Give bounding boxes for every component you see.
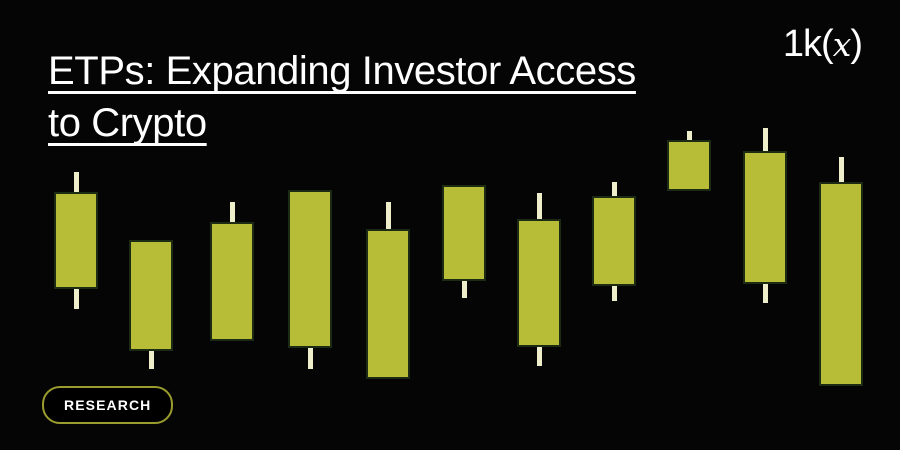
candlestick-body	[667, 140, 711, 191]
candlestick	[743, 0, 787, 450]
candlestick-body	[129, 240, 173, 351]
candlestick-body	[592, 196, 636, 286]
candlestick-body	[743, 151, 787, 284]
brand-logo: 1k(x)	[783, 22, 862, 67]
candlestick	[819, 0, 863, 450]
candlestick-body	[210, 222, 254, 341]
brand-logo-suffix: )	[850, 23, 862, 65]
research-badge[interactable]: RESEARCH	[42, 386, 173, 424]
candlestick-body	[442, 185, 486, 281]
research-badge-label: RESEARCH	[64, 397, 151, 413]
candlestick-body	[819, 182, 863, 386]
page-title: ETPs: Expanding Investor Access to Crypt…	[48, 45, 648, 149]
candlestick-body	[366, 229, 410, 379]
candlestick-body	[517, 219, 561, 347]
candlestick-body	[288, 190, 332, 348]
promo-card: ETPs: Expanding Investor Access to Crypt…	[0, 0, 900, 450]
brand-logo-prefix: 1k(	[783, 23, 833, 65]
candlestick-body	[54, 192, 98, 289]
brand-logo-x: x	[833, 25, 851, 64]
candlestick	[667, 0, 711, 450]
